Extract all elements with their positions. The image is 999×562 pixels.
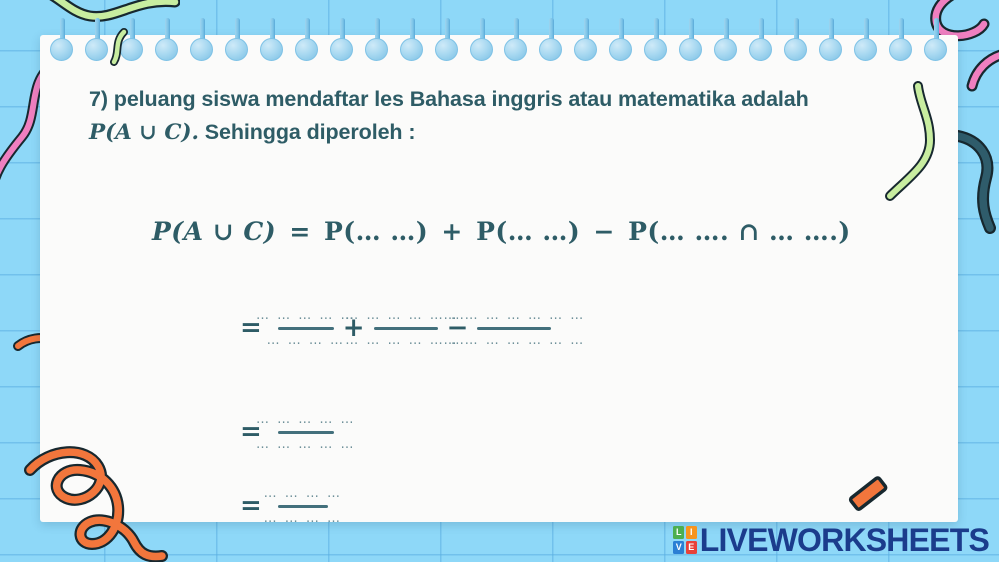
fraction-bar (477, 327, 551, 330)
formula-term-2: P(… …) (476, 217, 580, 246)
answer-fraction[interactable]: … … … … … … … … … … (278, 413, 334, 452)
logo-wordmark: LIVEWORKSHEETS (700, 524, 989, 556)
worksheet-content: 7) peluang siswa mendaftar les Bahasa in… (40, 35, 958, 522)
logo-tile-i: I (686, 526, 697, 539)
fraction-numerator[interactable]: … … … … … (256, 309, 356, 323)
question-number: 7) (89, 87, 108, 111)
fraction-denominator[interactable]: … … … … … (256, 438, 356, 452)
answer-fraction[interactable]: … … … … … … … … (278, 487, 328, 526)
probability-inline-expression: P(A ∪ C). (89, 120, 199, 145)
answer-row-1: = … … … … … … … … … + … … … … … … … … … … (240, 309, 551, 348)
formula-equals: = (285, 217, 314, 246)
worksheet-stage: 7) peluang siswa mendaftar les Bahasa in… (0, 0, 999, 562)
answer-row-3: = … … … … … … … … (240, 487, 328, 526)
answer-fraction[interactable]: … … … … … … … … … … … … … … (477, 309, 551, 348)
fraction-denominator[interactable]: … … … … (267, 334, 345, 348)
fraction-bar (278, 505, 328, 508)
fraction-denominator[interactable]: … … … … (264, 512, 342, 526)
fraction-bar (374, 327, 438, 330)
formula-lhs: P(A ∪ C) (152, 217, 276, 246)
question-text-after: Sehingga diperoleh : (205, 120, 416, 144)
fraction-numerator[interactable]: … … … … (264, 487, 342, 501)
formula-minus: − (589, 217, 618, 246)
formula-term-3: P(… …. ∩ … ….) (628, 217, 851, 246)
question-text-tail: adalah (741, 87, 809, 111)
fraction-numerator[interactable]: … … … … … (256, 413, 356, 427)
answer-row-2: = … … … … … … … … … … (240, 413, 334, 452)
fraction-bar (278, 431, 334, 434)
row3-equals: = (240, 493, 262, 519)
question-text: peluang siswa mendaftar les Bahasa inggr… (114, 87, 741, 111)
probability-formula: P(A ∪ C) = P(… …) + P(… …) − P(… …. ∩ … … (152, 217, 851, 246)
answer-fraction[interactable]: … … … … … … … … … (278, 309, 334, 348)
formula-plus: + (437, 217, 466, 246)
question-heading: 7) peluang siswa mendaftar les Bahasa in… (89, 83, 929, 149)
fraction-denominator[interactable]: … … … … … … … (444, 334, 586, 348)
liveworksheets-logo[interactable]: L I V E LIVEWORKSHEETS (673, 524, 989, 556)
answer-fraction[interactable]: … … … … … … … … … … … … (374, 309, 438, 348)
fraction-bar (278, 327, 334, 330)
formula-term-1: P(… …) (324, 217, 428, 246)
logo-tiles: L I V E (673, 526, 697, 554)
logo-tile-v: V (673, 541, 684, 554)
fraction-numerator[interactable]: … … … … … … … (444, 309, 586, 323)
logo-tile-e: E (686, 541, 697, 554)
logo-tile-l: L (673, 526, 684, 539)
